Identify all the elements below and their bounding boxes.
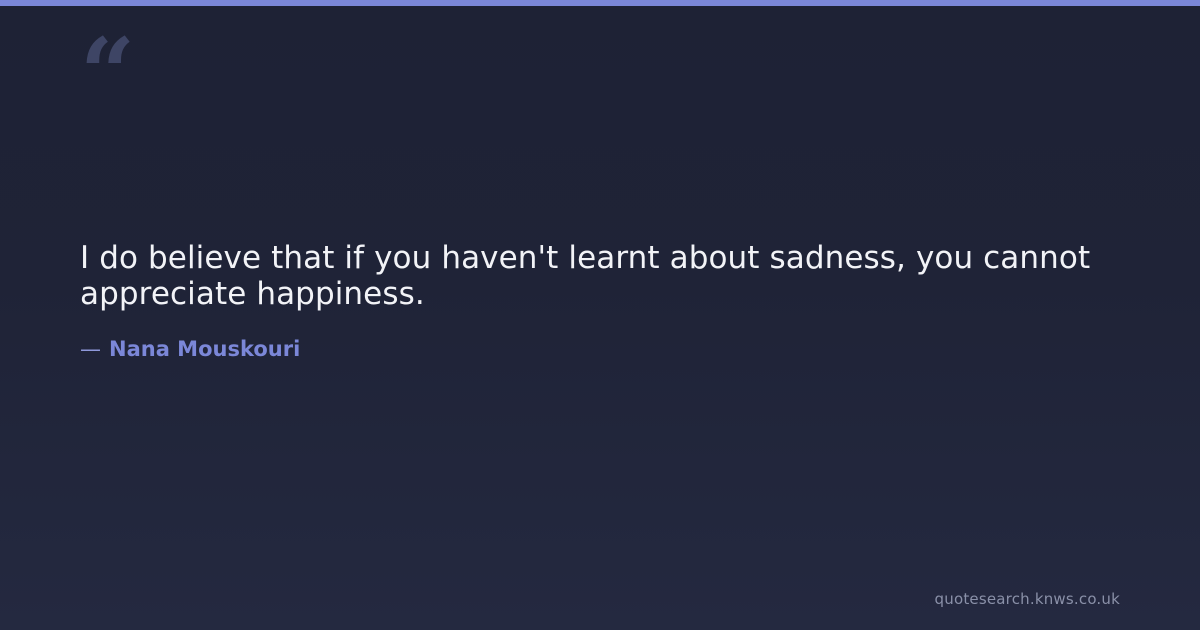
quote-attribution: —Nana Mouskouri — [80, 336, 1125, 362]
quote-content: I do believe that if you haven't learnt … — [80, 240, 1125, 362]
quote-author-name: Nana Mouskouri — [109, 337, 300, 361]
quotation-mark-icon: “ — [80, 26, 135, 122]
attribution-dash: — — [80, 337, 101, 361]
top-accent-bar — [0, 0, 1200, 6]
quote-text: I do believe that if you haven't learnt … — [80, 240, 1125, 312]
quote-card: “ I do believe that if you haven't learn… — [0, 0, 1200, 630]
site-watermark: quotesearch.knws.co.uk — [935, 590, 1120, 608]
